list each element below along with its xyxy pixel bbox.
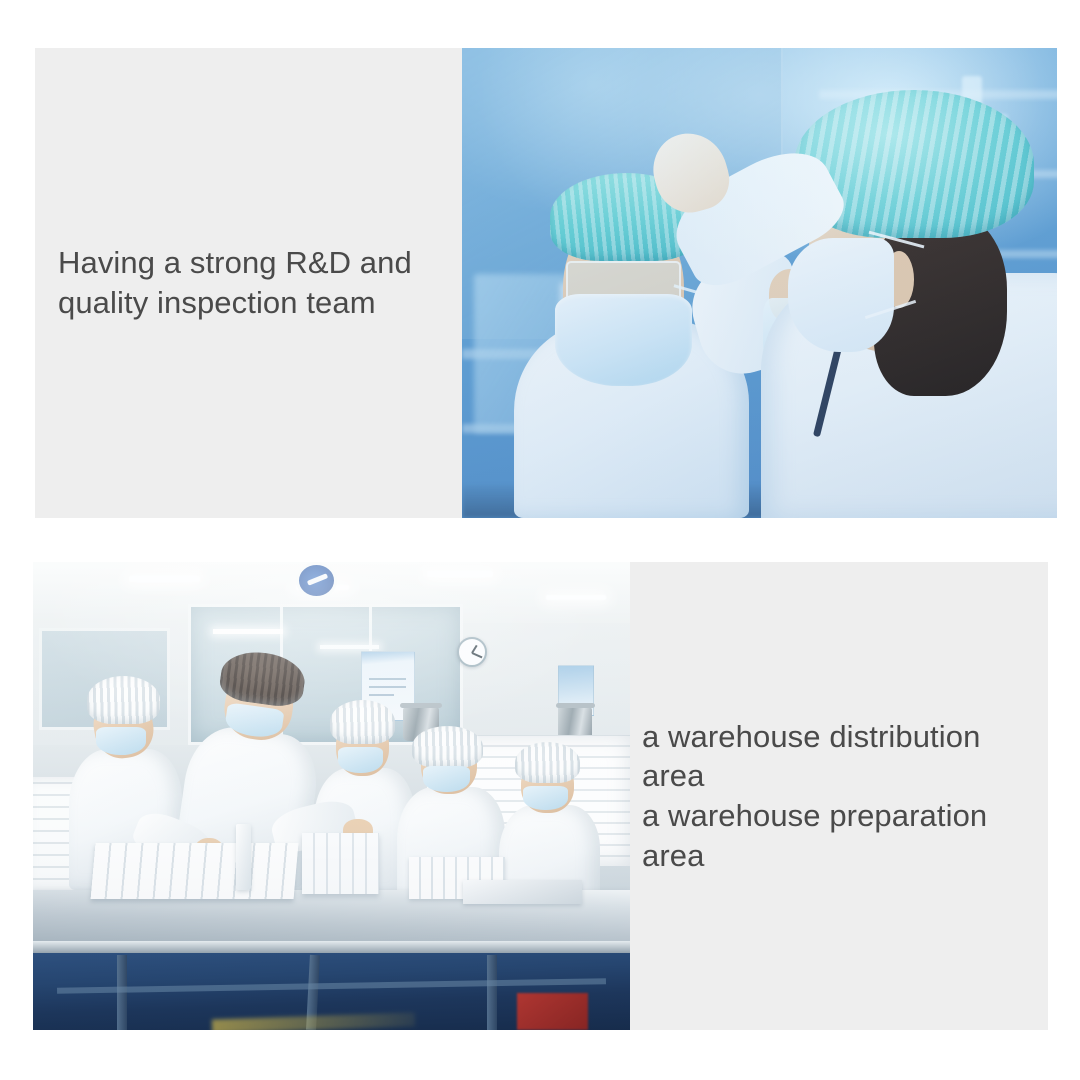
hairnet-cap-icon bbox=[412, 726, 483, 768]
hairnet-cap-icon bbox=[330, 700, 395, 745]
page-root: Having a strong R&D and quality inspecti… bbox=[0, 0, 1080, 1080]
interior-light bbox=[320, 645, 379, 649]
notice-line bbox=[369, 686, 406, 688]
face-mask-icon bbox=[788, 238, 895, 352]
section-rnd-quality: Having a strong R&D and quality inspecti… bbox=[35, 48, 1057, 518]
photo-warehouse-packing bbox=[33, 562, 630, 1030]
face-mask-icon bbox=[338, 747, 383, 773]
caption-panel-rnd: Having a strong R&D and quality inspecti… bbox=[35, 48, 462, 518]
face-mask-icon bbox=[423, 766, 470, 792]
ceiling-light bbox=[546, 595, 606, 600]
hairnet-cap-icon bbox=[515, 742, 580, 783]
ceiling-light bbox=[129, 576, 201, 582]
interior-light bbox=[213, 629, 283, 634]
caption-warehouse: a warehouse distribution area a warehous… bbox=[642, 717, 1040, 876]
wall-clock-icon bbox=[457, 637, 487, 667]
face-mask-icon bbox=[555, 294, 692, 386]
carton-row bbox=[90, 843, 298, 899]
caption-rnd-quality: Having a strong R&D and quality inspecti… bbox=[58, 243, 412, 322]
notice-line bbox=[369, 678, 406, 680]
photo-lab-inspection bbox=[462, 48, 1057, 518]
packing-tray bbox=[463, 880, 582, 903]
lab-technician-profile bbox=[748, 81, 1057, 518]
notice-line bbox=[369, 694, 395, 696]
hairnet-cap-icon bbox=[87, 676, 160, 724]
section-warehouse: a warehouse distribution area a warehous… bbox=[33, 562, 1048, 1030]
table-leg bbox=[487, 955, 497, 1030]
face-mask-icon bbox=[523, 786, 568, 810]
red-crate bbox=[517, 993, 589, 1030]
carton-row bbox=[302, 833, 380, 894]
caption-panel-warehouse: a warehouse distribution area a warehous… bbox=[630, 562, 1048, 1030]
ceiling-light bbox=[427, 571, 493, 577]
steel-table-edge bbox=[33, 941, 630, 953]
product-bottle bbox=[236, 824, 252, 890]
face-mask-icon bbox=[96, 727, 146, 755]
